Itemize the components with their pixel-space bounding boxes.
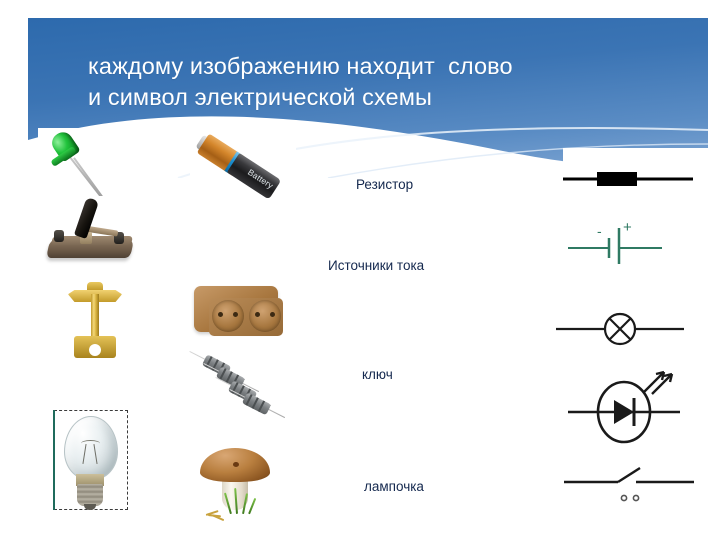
title-line-2: и символ электрической схемы (88, 82, 688, 113)
battery-body: Battery (197, 133, 282, 199)
socket-outlet-right (249, 300, 281, 332)
photo-knife-switch[interactable] (40, 196, 150, 272)
switch-terminal-left (54, 230, 64, 242)
symbol-resistor[interactable] (563, 148, 713, 196)
mushroom-cap-spot (233, 462, 239, 467)
socket-pin-hole (218, 312, 223, 317)
word-label-lamp[interactable]: лампочка (364, 479, 424, 494)
word-label-key[interactable]: ключ (362, 367, 393, 382)
title-line-1: каждому изображению находит слово (88, 51, 688, 82)
resistor-symbol-svg (563, 148, 713, 196)
word-label-resistor[interactable]: Резистор (356, 177, 413, 192)
presentation-slide: каждому изображению находит слово и симв… (0, 0, 720, 540)
symbol-open-switch[interactable] (562, 460, 696, 510)
led-symbol-svg (568, 362, 692, 446)
photo-light-bulb[interactable] (52, 404, 154, 516)
symbol-battery-cell[interactable]: - + (566, 218, 678, 266)
bulb-filament-coil (81, 440, 100, 447)
socket-pin-hole (233, 312, 238, 317)
resistor-band (258, 400, 265, 412)
battery-symbol-svg: - + (566, 218, 678, 266)
grass-blade (248, 498, 256, 515)
symbol-led[interactable] (568, 362, 692, 446)
resistor-band (252, 397, 259, 409)
bulb-glass-envelope (64, 416, 118, 480)
socket-pin-hole (255, 312, 260, 317)
lamp-symbol-svg (556, 306, 684, 352)
switch-symbol-svg (562, 460, 696, 510)
bulb-screw-base (77, 484, 103, 506)
battery-plus-label: + (623, 219, 632, 236)
resistor-band (245, 394, 252, 406)
word-label-current-sources[interactable]: Источники тока (328, 258, 424, 273)
symbol-lamp[interactable] (556, 306, 684, 352)
battery-minus-label: - (597, 223, 602, 239)
slide-title: каждому изображению находит слово и симв… (88, 51, 688, 114)
bulb-selection-edge (53, 410, 55, 510)
key-shaft (91, 294, 99, 342)
photo-golden-key[interactable] (44, 278, 144, 358)
photo-wall-socket[interactable] (184, 278, 290, 344)
photo-resistors[interactable] (186, 354, 290, 420)
photo-green-led[interactable] (38, 128, 144, 200)
key-hole (89, 344, 101, 356)
photo-mushroom[interactable] (186, 438, 290, 520)
socket-pin-hole (270, 312, 275, 317)
socket-faceplate (194, 286, 278, 332)
socket-outlet-left (212, 300, 244, 332)
photo-aa-battery[interactable]: Battery (190, 143, 296, 215)
